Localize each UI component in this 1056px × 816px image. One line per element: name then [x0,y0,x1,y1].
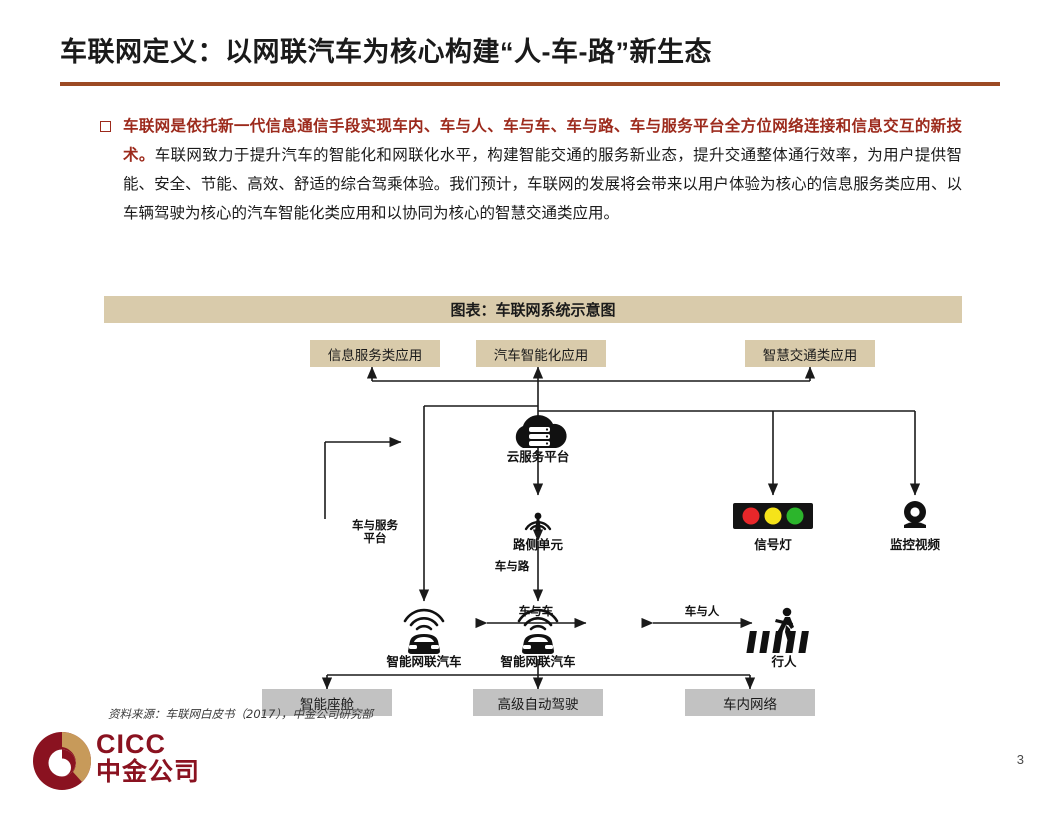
node-label-car-left: 智能网联汽车 [374,655,474,669]
figure-panel: 图表：车联网系统示意图 [104,296,962,712]
title-underline [60,82,1000,86]
figure-title-bar: 图表：车联网系统示意图 [104,296,962,323]
top-box-auto-intelligence[interactable]: 汽车智能化应用 [476,340,606,367]
edge-label-v2cloud: 车与服务 平台 [340,520,410,546]
bottom-box-in-vehicle-network[interactable]: 车内网络 [685,689,815,716]
paragraph-rest: 车联网致力于提升汽车的智能化和网联化水平，构建智能交通的服务新业态，提升交通整体… [123,146,962,222]
figure-title: 图表：车联网系统示意图 [450,299,615,320]
logo-en: CICC [96,730,200,758]
surveillance-camera-icon [897,499,933,531]
diagram-canvas: 信息服务类应用 汽车智能化应用 智慧交通类应用 云服 [104,323,962,712]
top-box-label: 智慧交通类应用 [763,344,858,364]
page-number: 3 [1017,752,1024,767]
node-label-car-mid: 智能网联汽车 [488,655,588,669]
title-block: 车联网定义：以网联汽车为核心构建“人-车-路”新生态 [60,36,1000,68]
bottom-box-autonomous-driving[interactable]: 高级自动驾驶 [473,689,603,716]
bottom-box-label: 车内网络 [723,693,777,713]
edge-label-v2i: 车与路 [484,561,540,574]
edge-label-v2v: 车与车 [508,606,564,619]
top-box-label: 汽车智能化应用 [494,344,589,364]
node-label-traffic-light: 信号灯 [723,538,823,552]
edge-label-v2p: 车与人 [674,606,730,619]
edge-label-v2cloud-line2: 平台 [340,533,410,546]
edge-label-v2cloud-line1: 车与服务 [340,520,410,533]
node-label-pedestrian: 行人 [734,655,834,669]
connected-car-icon [398,603,450,659]
traffic-light-icon [733,503,813,529]
body-paragraph: 车联网是依托新一代信息通信手段实现车内、车与人、车与车、车与路、车与服务平台全方… [123,112,962,228]
top-box-label: 信息服务类应用 [328,344,423,364]
antenna-icon [518,499,558,535]
bottom-box-label: 高级自动驾驶 [498,693,579,713]
cloud-server-icon [508,415,570,449]
logo-cn: 中金公司 [96,758,200,786]
logo-wordmark: CICC 中金公司 [96,730,200,786]
node-label-camera: 监控视频 [865,538,965,552]
node-label-rsu: 路侧单元 [488,538,588,552]
source-note: 资料来源：车联网白皮书（2017），中金公司研究部 [108,706,373,722]
pedestrian-crosswalk-icon [752,605,816,657]
top-box-smart-transport[interactable]: 智慧交通类应用 [745,340,875,367]
node-label-cloud: 云服务平台 [488,450,588,464]
body-paragraph-block: 车联网是依托新一代信息通信手段实现车内、车与人、车与车、车与路、车与服务平台全方… [100,112,962,228]
square-bullet-icon [100,121,111,132]
slide-root: 车联网定义：以网联汽车为核心构建“人-车-路”新生态 车联网是依托新一代信息通信… [0,0,1056,816]
top-box-info-services[interactable]: 信息服务类应用 [310,340,440,367]
page-title: 车联网定义：以网联汽车为核心构建“人-车-路”新生态 [60,36,1000,68]
